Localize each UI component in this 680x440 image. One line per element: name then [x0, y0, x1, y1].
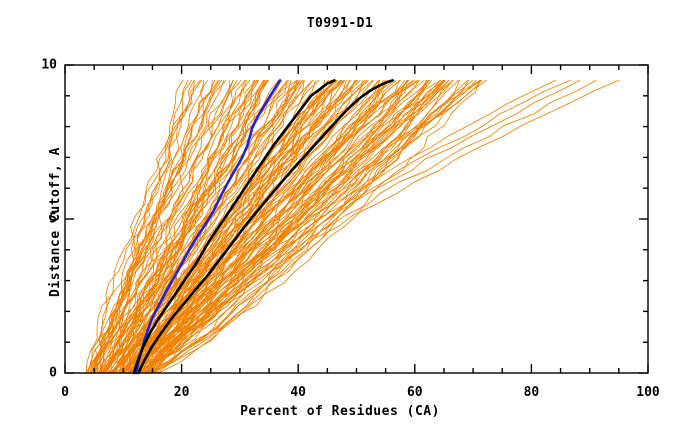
x-axis-label: Percent of Residues (CA) — [0, 404, 680, 419]
chart-figure: T0991-D1 020406080100 0510 Percent of Re… — [0, 0, 680, 440]
ensemble-curves-layer — [86, 80, 619, 373]
x-tick-label: 0 — [61, 385, 69, 400]
ensemble-curve — [111, 80, 304, 373]
y-tick-label: 10 — [25, 58, 57, 73]
x-tick-label: 60 — [407, 385, 423, 400]
ensemble-outlier-curve — [141, 80, 579, 373]
plot-canvas — [0, 0, 680, 440]
x-tick-label: 20 — [174, 385, 190, 400]
y-axis-label: Distance Cutoff, A — [48, 72, 63, 372]
x-tick-label: 80 — [524, 385, 540, 400]
x-tick-label: 40 — [290, 385, 306, 400]
x-tick-label: 100 — [636, 385, 659, 400]
